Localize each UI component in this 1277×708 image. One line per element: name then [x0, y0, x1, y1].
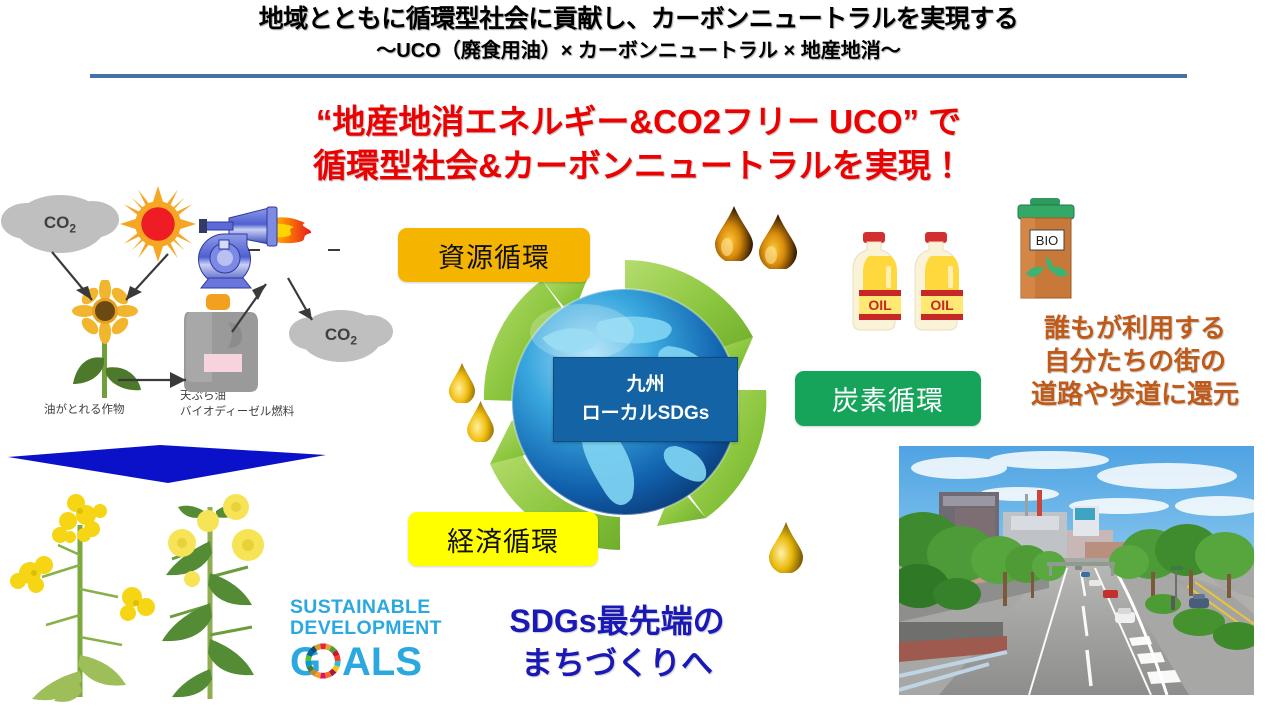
- bio-bin-label: BIO: [1036, 233, 1058, 248]
- header-divider: [90, 74, 1187, 78]
- sdgs-logo-goals: G: [290, 639, 460, 683]
- headline-line-1: “地産地消エネルギー&CO2フリー UCO” で: [0, 100, 1277, 144]
- svg-text:ALS: ALS: [342, 640, 422, 683]
- reinvestment-line-3: 道路や歩道に還元: [1000, 378, 1270, 411]
- title-line-1: 地域とともに循環型社会に貢献し、カーボンニュートラルを実現する: [0, 4, 1277, 35]
- reinvestment-text: 誰もが利用する 自分たちの街の 道路や歩道に還元: [1000, 312, 1270, 410]
- oil-bottle-label-2: OIL: [930, 297, 954, 313]
- oil-drop-icon-left-2: [465, 400, 496, 442]
- title-line-2: ～UCO（廃食用油）× カーボンニュートラル × 地産地消～: [0, 36, 1277, 66]
- sdgs-box-line-2: ローカルSDGs: [582, 400, 710, 429]
- oil-drop-icon-top-1: [713, 205, 755, 261]
- reinvestment-line-2: 自分たちの街の: [1000, 345, 1270, 378]
- blue-arrow-banner: [8, 443, 326, 485]
- headline: “地産地消エネルギー&CO2フリー UCO” で 循環型社会&カーボンニュートラ…: [0, 100, 1277, 187]
- oil-bottles-icon: OIL OIL: [845, 230, 985, 335]
- co2-top-sub: 2: [69, 221, 76, 235]
- city-making-line-1: SDGs最先端の: [462, 600, 772, 642]
- oil-drop-icon-top-2: [757, 213, 799, 269]
- sdgs-logo: SUSTAINABLE DEVELOPMENT G: [290, 598, 460, 680]
- sdgs-logo-line-2: DEVELOPMENT: [290, 618, 460, 640]
- reinvestment-line-1: 誰もが利用する: [1000, 312, 1270, 345]
- city-making-text: SDGs最先端の まちづくりへ: [462, 600, 772, 684]
- oil-drop-icon-bottom-1: [767, 521, 805, 573]
- oil-drop-icon-left-1: [447, 362, 477, 403]
- bio-bin-icon: BIO: [1010, 196, 1082, 302]
- slide-title: 地域とともに循環型社会に貢献し、カーボンニュートラルを実現する ～UCO（廃食用…: [0, 4, 1277, 66]
- badge-resource-cycle: 資源循環: [398, 228, 590, 282]
- co2-top-label: CO: [44, 213, 70, 232]
- sdgs-logo-line-1: SUSTAINABLE: [290, 598, 460, 618]
- city-making-line-2: まちづくりへ: [462, 642, 772, 684]
- rapeseed-plants-illustration: [0, 485, 300, 703]
- co2-right-label: CO: [325, 325, 351, 344]
- sdgs-box-line-1: 九州: [626, 371, 664, 400]
- slide-root: 地域とともに循環型社会に貢献し、カーボンニュートラルを実現する ～UCO（廃食用…: [0, 0, 1277, 703]
- oil-bottle-label-1: OIL: [868, 297, 892, 313]
- street-photo: [899, 446, 1254, 695]
- badge-economy-cycle: 経済循環: [408, 512, 598, 566]
- kyushu-local-sdgs-box: 九州 ローカルSDGs: [553, 357, 738, 442]
- badge-carbon-cycle: 炭素循環: [795, 371, 981, 426]
- co2-right-sub: 2: [350, 333, 357, 347]
